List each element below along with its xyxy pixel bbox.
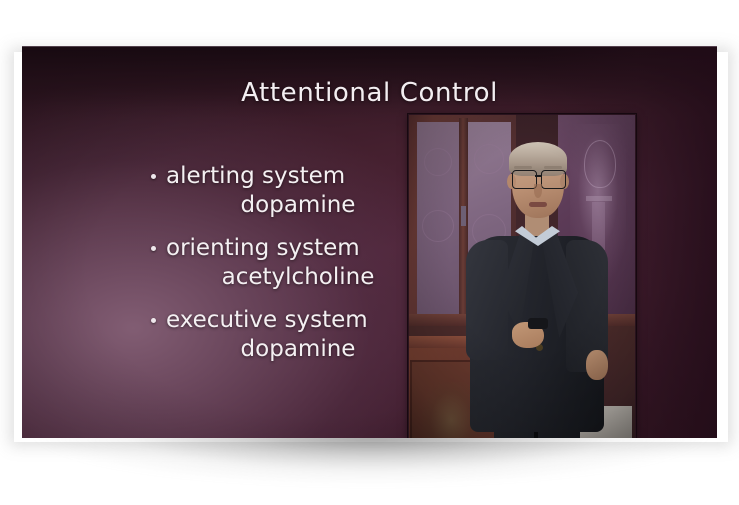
bullet-primary-line: executive system	[150, 306, 430, 335]
bullet-text: alerting system	[166, 163, 345, 189]
list-item: alerting system dopamine	[150, 162, 430, 220]
screenshot-root: Attentional Control alerting system dopa…	[0, 0, 739, 505]
slide-title: Attentional Control	[22, 78, 717, 108]
bullet-dot-icon	[151, 318, 156, 323]
bullet-secondary-line: acetylcholine	[150, 263, 430, 292]
list-item: orienting system acetylcholine	[150, 234, 430, 292]
video-border	[408, 114, 636, 438]
bullet-dot-icon	[151, 246, 156, 251]
bullet-text: executive system	[166, 307, 368, 333]
list-item: executive system dopamine	[150, 306, 430, 364]
bullet-primary-line: alerting system	[150, 162, 430, 191]
bullet-primary-line: orienting system	[150, 234, 430, 263]
slide-drop-shadow	[30, 434, 712, 486]
presentation-slide: Attentional Control alerting system dopa…	[22, 46, 717, 438]
bullet-dot-icon	[151, 174, 156, 179]
lecturer-video-feed[interactable]	[408, 114, 636, 438]
bullet-secondary-line: dopamine	[150, 335, 430, 364]
bullet-secondary-line: dopamine	[150, 191, 430, 220]
bullet-text: orienting system	[166, 235, 360, 261]
bullet-list: alerting system dopamine orienting syste…	[150, 162, 430, 378]
